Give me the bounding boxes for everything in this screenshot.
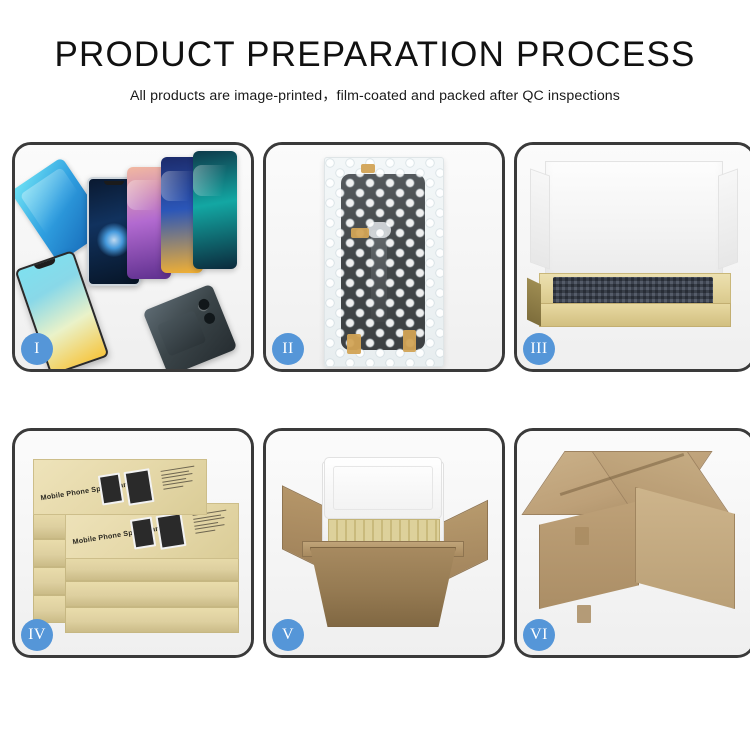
tape-icon	[347, 334, 361, 354]
stacked-box	[65, 607, 239, 633]
tape-icon	[403, 330, 416, 352]
step-badge-iii: III	[523, 333, 555, 365]
phone-back-housing-icon	[143, 284, 238, 372]
step-badge-vi: VI	[523, 619, 555, 651]
internal-board-icon	[157, 310, 207, 357]
step-v-photo	[266, 431, 502, 655]
printed-box-top-a: Mobile Phone Spare Parts	[33, 459, 207, 515]
white-inner-lid-icon	[545, 161, 723, 287]
box-screen-print	[124, 468, 155, 506]
box-stack-group: Mobile Phone Spare Parts Mobile Phone Sp…	[25, 447, 245, 647]
step-panel-ii[interactable]: II	[263, 142, 505, 372]
stacked-box	[65, 581, 239, 607]
step-badge-iv: IV	[21, 619, 53, 651]
process-step-grid: I II	[12, 142, 740, 672]
tape-icon	[351, 228, 369, 238]
step-badge-i: I	[21, 333, 53, 365]
step-badge-v: V	[272, 619, 304, 651]
bubble-wrapped-contents-icon	[553, 277, 713, 305]
step-panel-iv[interactable]: Mobile Phone Spare Parts Mobile Phone Sp…	[12, 428, 254, 658]
box-screen-print	[98, 472, 124, 505]
teal-phone-icon	[193, 151, 237, 269]
step-badge-ii: II	[272, 333, 304, 365]
carton-left-face-icon	[539, 501, 639, 609]
bubble-wrap-bag-icon	[324, 157, 444, 367]
box-screen-print	[130, 516, 156, 549]
page-subtitle: All products are image-printed，film-coat…	[0, 85, 750, 105]
step-i-photo	[15, 145, 251, 369]
camera-lens-icon	[197, 297, 211, 311]
step-iii-photo	[517, 145, 750, 369]
step-ii-photo	[266, 145, 502, 369]
step-panel-vi[interactable]: VI	[514, 428, 750, 658]
step-panel-iii[interactable]: III	[514, 142, 750, 372]
header: PRODUCT PREPARATION PROCESS All products…	[0, 0, 750, 105]
kraft-box-front-icon	[539, 303, 731, 327]
phone-notch-icon	[34, 258, 56, 270]
step-panel-i[interactable]: I	[12, 142, 254, 372]
carton-body-icon	[310, 547, 456, 627]
wallpaper-burst-icon	[97, 223, 131, 257]
tape-icon	[361, 164, 375, 173]
carton-tape-icon	[575, 527, 589, 545]
step-vi-photo	[517, 431, 750, 655]
foam-lid-icon	[324, 457, 442, 519]
kraft-box-side-icon	[527, 278, 541, 327]
carton-tape-icon	[577, 605, 591, 623]
bubble-texture-icon	[325, 158, 443, 366]
page-title: PRODUCT PREPARATION PROCESS	[0, 36, 750, 74]
step-panel-v[interactable]: V	[263, 428, 505, 658]
step-iv-photo: Mobile Phone Spare Parts Mobile Phone Sp…	[15, 431, 251, 655]
box-spec-lines	[161, 465, 200, 491]
process-infographic: PRODUCT PREPARATION PROCESS All products…	[0, 0, 750, 750]
box-screen-print	[156, 512, 187, 550]
phone-notch-icon	[104, 181, 124, 185]
